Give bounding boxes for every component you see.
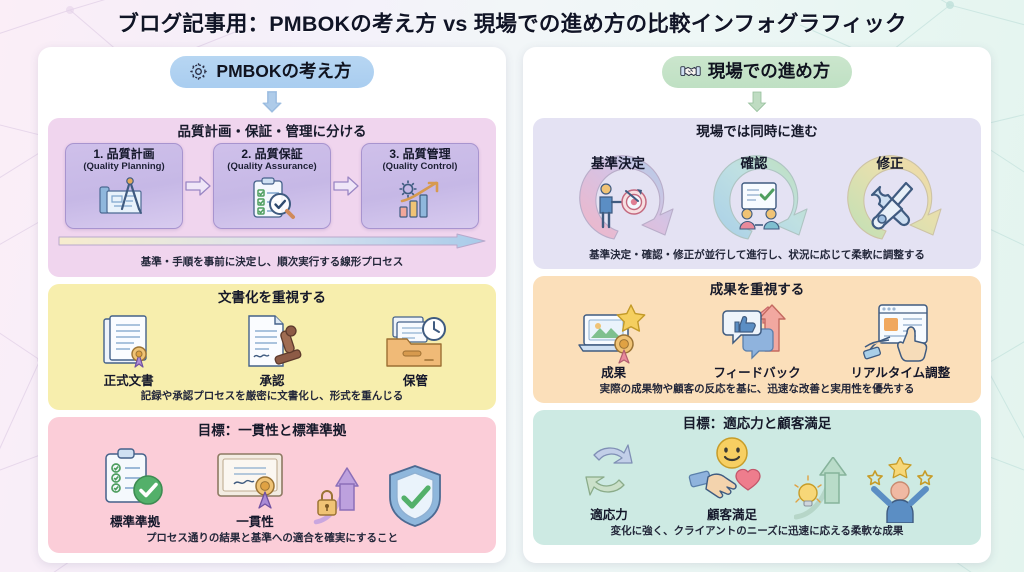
right-section-1-note: 基準決定・確認・修正が並行して進行し、状況に応じて柔軟に調整する	[542, 249, 972, 262]
comparison-columns: PMBOKの考え方 品質計画・保証・管理に分ける 1. 品質計画 (Qualit…	[0, 38, 1024, 563]
step-quality-control[interactable]: 3. 品質管理 (Quality Control)	[361, 143, 479, 229]
item-customer-satisfaction[interactable]: 顧客満足	[686, 435, 778, 523]
circular-arrows-icon	[576, 435, 642, 503]
left-section-2-heading: 文書化を重視する	[57, 290, 487, 306]
left-goal-items: 標準準拠	[57, 442, 487, 530]
item-label: 保管	[403, 374, 428, 388]
left-badge-label: PMBOKの考え方	[216, 61, 351, 81]
left-section-1-note: 基準・手順を事前に決定し、順次実行する線形プロセス	[57, 256, 487, 269]
right-section-3: 目標：適応力と顧客満足 適応力	[533, 410, 981, 545]
step-1-subtitle: (Quality Planning)	[83, 162, 164, 173]
parallel-cycles-row: 基準決定 確認 修正	[542, 143, 972, 247]
item-consistency[interactable]: 一貫性	[212, 442, 298, 530]
right-badge-label: 現場での進め方	[708, 61, 831, 81]
item-label: リアルタイム調整	[851, 366, 951, 380]
handshake-icon	[680, 61, 701, 82]
left-section-3-note: プロセス通りの結果と基準への適合を確実にすること	[57, 532, 487, 545]
infographic-root: ブログ記事用：PMBOKの考え方 vs 現場での進め方の比較インフォグラフィック…	[0, 0, 1024, 572]
hand-touch-screen-icon	[863, 301, 937, 365]
left-column-badge[interactable]: PMBOKの考え方	[170, 56, 373, 88]
item-standard-compliance[interactable]: 標準準拠	[98, 442, 172, 530]
blueprint-compass-icon	[96, 173, 152, 225]
cycle-label-1: 基準決定	[591, 155, 645, 171]
item-label: 適応力	[590, 504, 628, 523]
left-section-1: 品質計画・保証・管理に分ける 1. 品質計画 (Quality Planning…	[48, 118, 496, 277]
item-storage[interactable]: 保管	[344, 309, 486, 388]
smiley-handshake-heart-icon	[686, 435, 778, 503]
step-arrow-1-icon	[183, 143, 213, 229]
step-2-subtitle: (Quality Assurance)	[227, 162, 316, 173]
documentation-items: 正式文書	[57, 309, 487, 388]
item-label: 正式文書	[104, 374, 154, 388]
certificate-medal-icon	[212, 442, 298, 510]
right-section-1: 現場では同時に進む	[533, 118, 981, 269]
right-section-2-heading: 成果を重視する	[542, 282, 972, 298]
right-column-badge[interactable]: 現場での進め方	[662, 56, 853, 88]
item-formal-document[interactable]: 正式文書	[58, 309, 200, 388]
step-1-title: 1. 品質計画	[93, 148, 154, 161]
item-label: 顧客満足	[707, 504, 757, 523]
three-cycle-arrows-diagram: 基準決定 確認 修正	[542, 143, 972, 247]
right-section-3-note: 変化に強く、クライアントのニーズに迅速に応える柔軟な成果	[542, 525, 972, 538]
step-3-title: 3. 品質管理	[389, 148, 450, 161]
item-approval[interactable]: 承認	[201, 309, 343, 388]
step-arrow-2-icon	[331, 143, 361, 229]
left-section-2-note: 記録や承認プロセスを厳密に文書化し、形式を重んじる	[57, 390, 487, 403]
item-label: 成果	[601, 366, 626, 380]
left-section-2: 文書化を重視する	[48, 284, 496, 411]
item-label: 一貫性	[236, 511, 274, 530]
right-section-2: 成果を重視する	[533, 276, 981, 403]
quality-steps-row: 1. 品質計画 (Quality Planning)	[57, 143, 487, 229]
left-section-3: 目標：一貫性と標準準拠	[48, 417, 496, 552]
right-down-arrow-icon	[744, 89, 770, 115]
cycle-label-2: 確認	[741, 155, 769, 171]
gear-chart-icon	[392, 173, 448, 225]
review-team-icon	[740, 183, 779, 229]
outcome-items: 成果 フィード	[542, 301, 972, 380]
lock-arrow-icon	[312, 462, 378, 530]
certificate-document-icon	[98, 309, 160, 373]
item-realtime-adjustment[interactable]: リアルタイム調整	[829, 301, 971, 380]
item-feedback[interactable]: フィードバック	[686, 301, 828, 380]
checklist-magnifier-icon	[244, 173, 300, 225]
item-label: 標準準拠	[110, 511, 160, 530]
thumbs-up-chat-icon	[721, 301, 793, 365]
person-stars-icon	[862, 455, 938, 523]
step-quality-assurance[interactable]: 2. 品質保証 (Quality Assurance)	[213, 143, 331, 229]
clipboard-check-icon	[98, 442, 172, 510]
gear-icon	[188, 61, 209, 82]
item-outcome[interactable]: 成果	[543, 301, 685, 380]
linear-process-arrow-icon	[57, 233, 487, 249]
right-section-3-heading: 目標：適応力と顧客満足	[542, 416, 972, 432]
stamp-approval-icon	[239, 309, 305, 373]
bulb-growth-arrow-icon	[794, 455, 856, 523]
laptop-star-medal-icon	[576, 301, 652, 365]
right-section-2-note: 実際の成果物や顧客の反応を基に、迅速な改善と実用性を優先する	[542, 383, 972, 396]
step-3-subtitle: (Quality Control)	[383, 162, 458, 173]
left-section-3-heading: 目標：一貫性と標準準拠	[57, 423, 487, 439]
item-label: 承認	[259, 374, 284, 388]
wrench-tools-icon	[872, 183, 912, 228]
right-column-card: 現場での進め方 現場では同時に進む	[523, 47, 991, 563]
archive-folder-clock-icon	[381, 309, 449, 373]
item-adaptability[interactable]: 適応力	[576, 435, 642, 523]
left-section-1-heading: 品質計画・保証・管理に分ける	[57, 124, 487, 140]
step-quality-planning[interactable]: 1. 品質計画 (Quality Planning)	[65, 143, 183, 229]
step-2-title: 2. 品質保証	[241, 148, 302, 161]
shield-check-icon	[384, 462, 446, 530]
cycle-label-3: 修正	[876, 155, 905, 171]
page-title: ブログ記事用：PMBOKの考え方 vs 現場での進め方の比較インフォグラフィック	[0, 0, 1024, 38]
left-down-arrow-icon	[259, 89, 285, 115]
target-person-icon	[600, 184, 646, 227]
left-column-card: PMBOKの考え方 品質計画・保証・管理に分ける 1. 品質計画 (Qualit…	[38, 47, 506, 563]
right-goal-items: 適応力 顧客満	[542, 435, 972, 523]
item-label: フィードバック	[713, 366, 800, 380]
right-section-1-heading: 現場では同時に進む	[542, 124, 972, 140]
